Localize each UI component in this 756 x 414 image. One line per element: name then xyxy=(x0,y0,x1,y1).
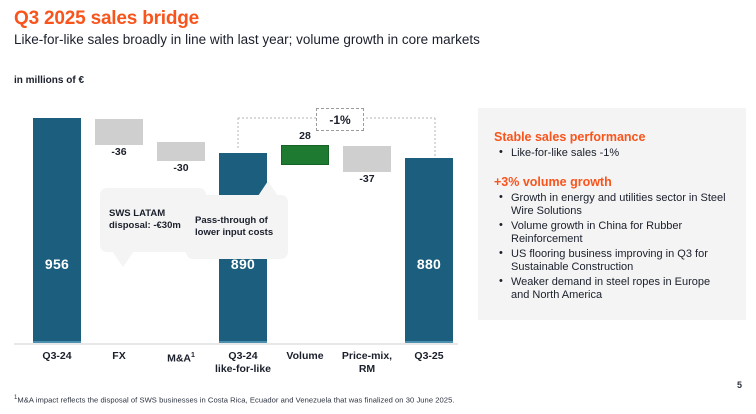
bar-fx xyxy=(95,119,143,145)
axis-label-q3-25: Q3-25 xyxy=(401,350,457,363)
footnote: 1M&A impact reflects the disposal of SWS… xyxy=(14,395,455,405)
bar-value-q3-25: 880 xyxy=(405,256,453,272)
axis-label-q3-24-like-for-like: Q3-24 like-for-like xyxy=(211,350,275,375)
bar-volume xyxy=(281,145,329,165)
panel-heading-volume-growth: +3% volume growth xyxy=(494,175,730,189)
bar-value-price-mix-rm: -37 xyxy=(343,173,391,185)
callout-pass-through: Pass-through of lower input costs xyxy=(186,195,288,259)
callout-tail-icon xyxy=(112,251,134,267)
axis-label-ma-footnote-marker: 1 xyxy=(191,352,195,359)
list-item: Growth in energy and utilities sector in… xyxy=(494,192,730,219)
list-item: Weaker demand in steel ropes in Europe a… xyxy=(494,276,730,303)
waterfall-chart: -1% 956 -36 -30 890 28 -37 880 SWS LATAM… xyxy=(0,100,472,390)
bar-q3-24: 956 xyxy=(33,118,81,343)
commentary-panel: Stable sales performance Like-for-like s… xyxy=(478,108,746,320)
panel-list-volume-growth: Growth in energy and utilities sector in… xyxy=(494,192,730,303)
bar-price-mix-rm xyxy=(343,146,391,172)
bar-ma xyxy=(157,142,205,161)
page-title: Q3 2025 sales bridge xyxy=(14,8,199,30)
axis-label-fx: FX xyxy=(91,350,147,363)
callout-pass-through-text: Pass-through of lower input costs xyxy=(195,215,273,239)
panel-list-stable-sales: Like-for-like sales -1% xyxy=(494,147,730,161)
panel-heading-stable-sales: Stable sales performance xyxy=(494,130,730,144)
bar-value-ma: -30 xyxy=(157,162,205,174)
axis-label-volume: Volume xyxy=(277,350,333,363)
list-item: Volume growth in China for Rubber Reinfo… xyxy=(494,220,730,247)
list-item: Like-for-like sales -1% xyxy=(494,147,730,161)
axis-label-price-mix-rm: Price-mix, RM xyxy=(339,350,395,375)
bar-value-volume: 28 xyxy=(281,130,329,142)
axis-label-ma-text: M&A xyxy=(167,353,191,365)
footnote-text: M&A impact reflects the disposal of SWS … xyxy=(17,396,454,405)
page-number: 5 xyxy=(737,380,742,390)
callout-sws-latam-text: SWS LATAM disposal: -€30m xyxy=(109,208,181,232)
axis-label-ma: M&A1 xyxy=(153,350,209,365)
delta-badge: -1% xyxy=(316,108,364,131)
bar-q3-25: 880 xyxy=(405,158,453,343)
axis-baseline xyxy=(14,343,458,345)
bar-value-q3-24: 956 xyxy=(33,256,81,272)
bar-value-fx: -36 xyxy=(95,146,143,158)
units-label: in millions of € xyxy=(14,75,84,86)
page-subtitle: Like-for-like sales broadly in line with… xyxy=(14,32,480,47)
axis-label-q3-24: Q3-24 xyxy=(29,350,85,363)
callout-tail-icon xyxy=(258,181,278,196)
list-item: US flooring business improving in Q3 for… xyxy=(494,248,730,275)
